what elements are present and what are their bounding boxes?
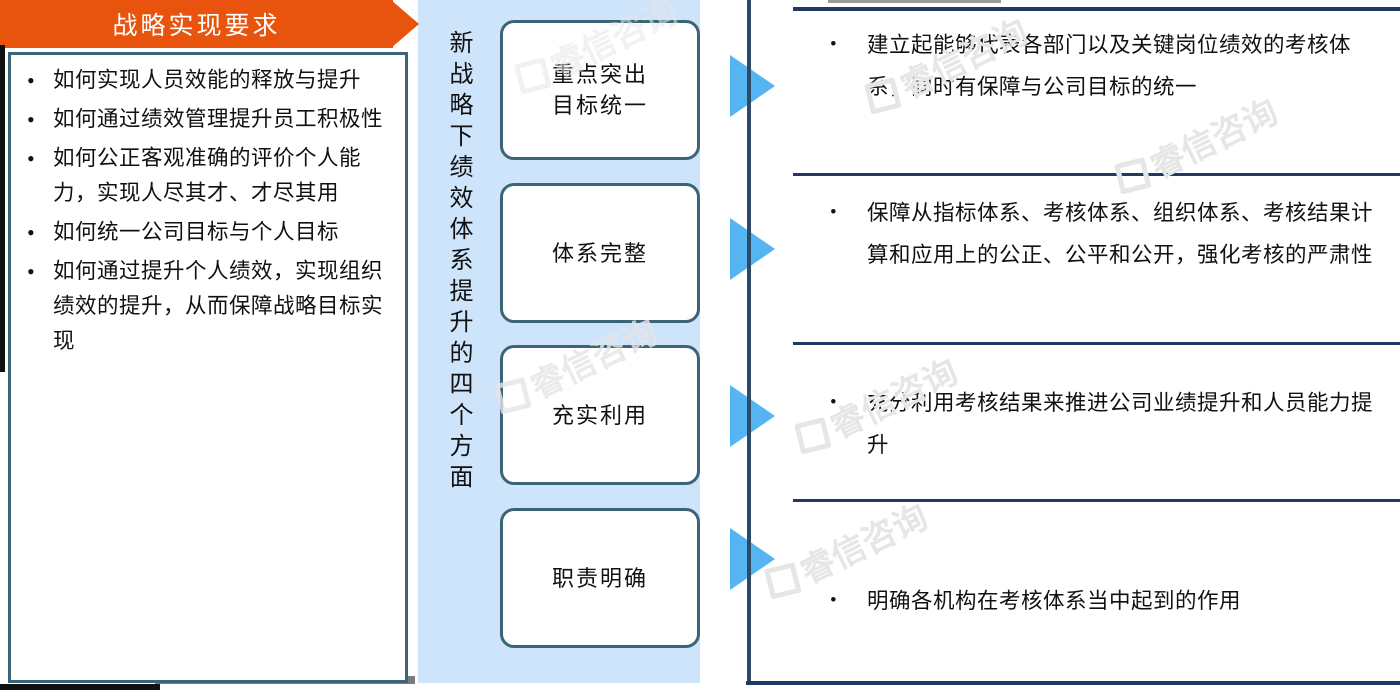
right-item-text: 明确各机构在考核体系当中起到的作用: [812, 580, 1387, 622]
right-item-separator: [793, 499, 1400, 502]
right-panel: 建立起能够代表各部门以及关键岗位绩效的考核体系，同时有保障与公司目标的统一 保障…: [747, 0, 1400, 690]
list-item: 如何通过绩效管理提升员工积极性: [17, 102, 399, 137]
top-rule: [793, 7, 1400, 11]
top-gray-rule: [828, 0, 1001, 3]
middle-box-group: 重点突出目标统一 体系完整 充实利用 职责明确: [500, 20, 700, 670]
list-item: 如何通过提升个人绩效，实现组织绩效的提升，从而保障战略目标实现: [17, 254, 399, 359]
list-item: 如何公正客观准确的评价个人能力，实现人尽其才、才尽其用: [17, 141, 399, 211]
left-edge-accent-bar: [0, 45, 5, 372]
header-chevron-icon: [391, 0, 419, 48]
page-title: 战略实现要求: [0, 0, 393, 48]
left-panel-header: 战略实现要求: [0, 0, 418, 48]
arrow-right-icon: [730, 528, 775, 590]
slide-canvas: 睿信咨询 睿信咨询 睿信咨询 睿信咨询 睿信咨询 睿信咨询 睿信咨询 睿信咨询 …: [0, 0, 1400, 690]
middle-box[interactable]: 充实利用: [500, 345, 700, 485]
list-item: 如何实现人员效能的释放与提升: [17, 63, 399, 98]
right-item-separator: [793, 173, 1400, 176]
right-item-text: 充分利用考核结果来推进公司业绩提升和人员能力提升: [812, 382, 1387, 466]
arrow-right-icon: [730, 55, 775, 117]
right-item-text: 建立起能够代表各部门以及关键岗位绩效的考核体系，同时有保障与公司目标的统一: [812, 24, 1387, 108]
right-item-separator: [793, 342, 1400, 345]
arrow-right-icon: [730, 385, 775, 447]
right-item-text: 保障从指标体系、考核体系、组织体系、考核结果计算和应用上的公正、公平和公开，强化…: [812, 192, 1387, 276]
middle-box[interactable]: 体系完整: [500, 183, 700, 323]
left-content-box: 如何实现人员效能的释放与提升 如何通过绩效管理提升员工积极性 如何公正客观准确的…: [8, 52, 408, 683]
bottom-left-accent-rule: [0, 684, 160, 690]
middle-vertical-title: 新战略下绩效体系提升的四个方面: [436, 30, 480, 495]
left-panel: 如何实现人员效能的释放与提升 如何通过绩效管理提升员工积极性 如何公正客观准确的…: [0, 0, 418, 690]
list-item: 如何统一公司目标与个人目标: [17, 215, 399, 250]
arrow-right-icon: [730, 218, 775, 280]
middle-box[interactable]: 职责明确: [500, 508, 700, 648]
vertical-divider: [747, 0, 751, 681]
bottom-rule: [746, 681, 1400, 685]
strategy-requirement-list: 如何实现人员效能的释放与提升 如何通过绩效管理提升员工积极性 如何公正客观准确的…: [17, 63, 399, 363]
middle-box[interactable]: 重点突出目标统一: [500, 20, 700, 160]
